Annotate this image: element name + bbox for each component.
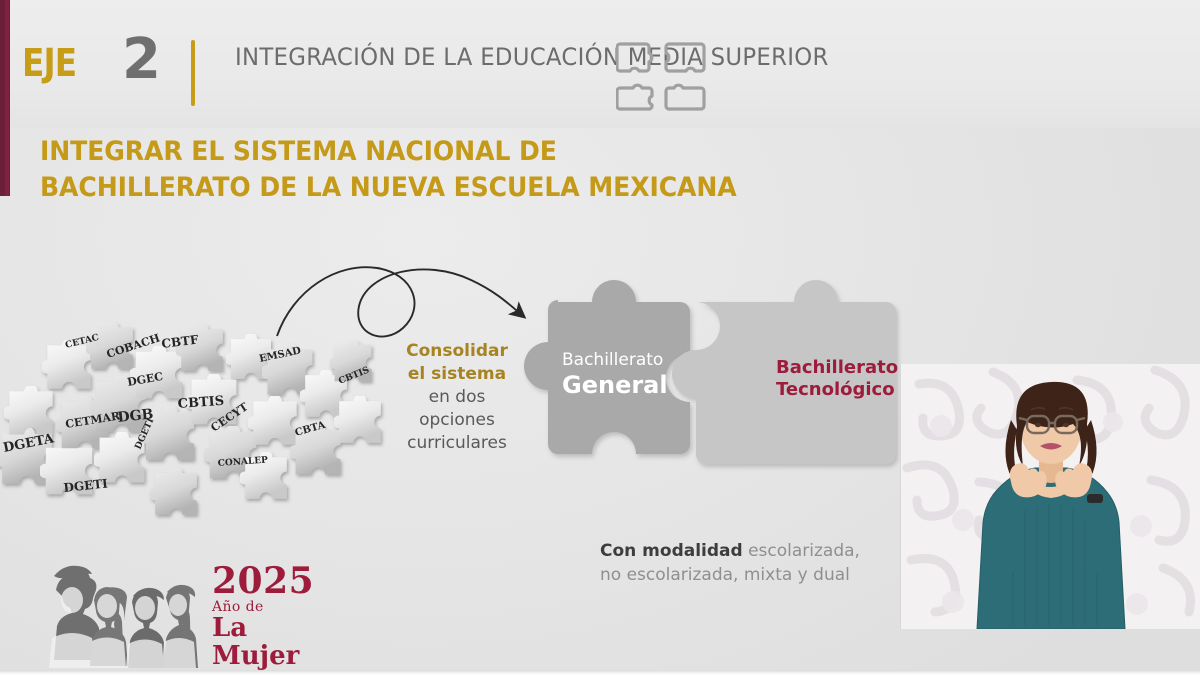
- eje-number: 2: [122, 32, 161, 88]
- sign-language-interpreter-video[interactable]: [900, 364, 1200, 629]
- left-accent-bar-inner: [5, 0, 9, 196]
- logo-2025-mujer-indigena: 2025 Año de La Mujer Indígena: [40, 560, 330, 668]
- logo-line-1: La Mujer: [212, 615, 342, 670]
- left-accent-bar: [0, 0, 10, 196]
- modalidad-line-2: no escolarizada, mixta y dual: [600, 565, 850, 585]
- bachillerato-general-piece[interactable]: [524, 280, 690, 454]
- bachillerato-tecnologico-piece[interactable]: [672, 280, 896, 464]
- modalidad-bold: Con modalidad: [600, 541, 743, 561]
- puzzle-pieces-diagram: [500, 240, 940, 540]
- slide-header: EJE 2 INTEGRACIÓN DE LA EDUCACIÓN MEDIA …: [0, 0, 1200, 128]
- slide-root: EJE 2 INTEGRACIÓN DE LA EDUCACIÓN MEDIA …: [0, 0, 1200, 675]
- header-subtitle: INTEGRACIÓN DE LA EDUCACIÓN MEDIA SUPERI…: [235, 42, 829, 72]
- modalidad-caption: Con modalidad escolarizada, no escolariz…: [600, 540, 860, 588]
- modalidad-rest: escolarizada,: [743, 541, 860, 561]
- puzzle-grid-icon: [616, 38, 708, 112]
- header-divider: [191, 40, 195, 106]
- interpreter-figure: [901, 364, 1200, 629]
- page-title: INTEGRAR EL SISTEMA NACIONAL DE BACHILLE…: [40, 134, 737, 206]
- indigenous-women-illustration: [40, 560, 205, 668]
- logo-2025-text: 2025 Año de La Mujer Indígena: [212, 564, 342, 675]
- bottom-edge: [0, 670, 1200, 675]
- eje-label: EJE: [22, 44, 76, 82]
- logo-year: 2025: [212, 564, 342, 599]
